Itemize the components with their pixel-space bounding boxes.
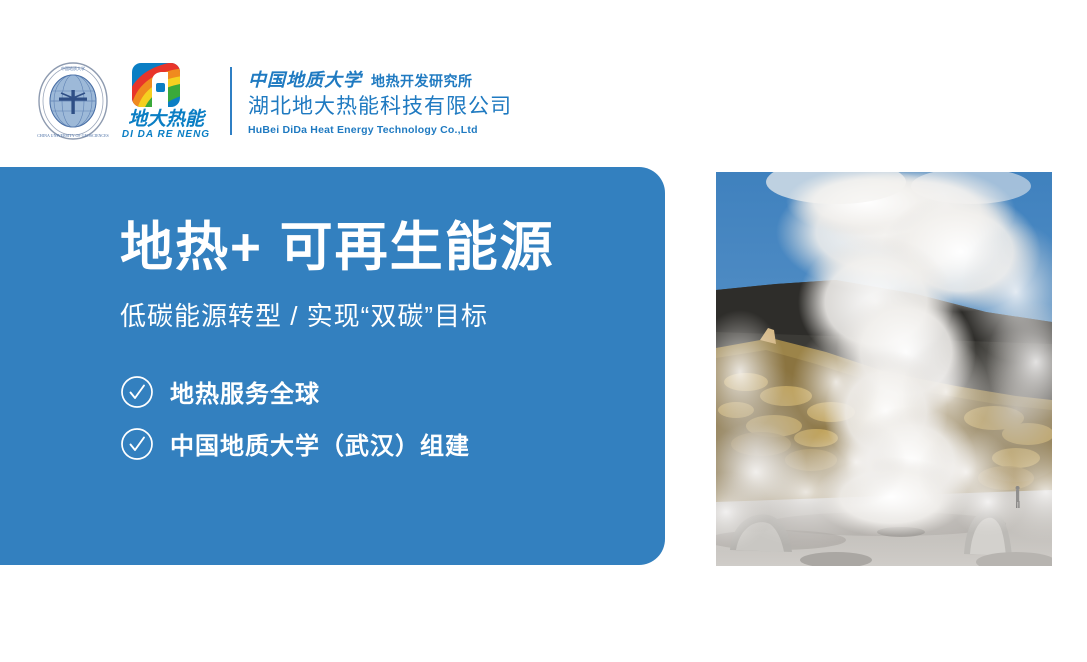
hero-title: 地热+ 可再生能源 (120, 219, 640, 277)
svg-text:地大热能: 地大热能 (128, 108, 207, 130)
company-name-cn: 湖北地大热能科技有限公司 (248, 94, 512, 120)
brand-divider (230, 67, 232, 135)
hero-bullet-label: 中国地质大学（武汉）组建 (170, 426, 470, 461)
company-name-en: HuBei DiDa Heat Energy Technology Co.,Lt… (248, 124, 512, 136)
brand-text-block: 中国地质大学 地热开发研究所 湖北地大热能科技有限公司 HuBei DiDa H… (248, 61, 512, 141)
company-logo-icon: 地大热能 DI DA RE NENG (118, 61, 214, 141)
university-seal-icon: 中国地质大学 CHINA UNIVERSITY OF GEOSCIENCES (36, 61, 110, 141)
hero-bullet-item: 中国地质大学（武汉）组建 (120, 426, 640, 461)
hero-subtitle: 低碳能源转型 / 实现“双碳”目标 (120, 301, 640, 332)
svg-text:CHINA UNIVERSITY OF GEOSCIENCE: CHINA UNIVERSITY OF GEOSCIENCES (37, 133, 109, 138)
brand-header-bar: 中国地质大学 CHINA UNIVERSITY OF GEOSCIENCES (0, 0, 1087, 167)
brand-line-university: 中国地质大学 地热开发研究所 (248, 66, 512, 92)
hero-bullet-label: 地热服务全球 (170, 374, 320, 409)
hero-panel: 地热+ 可再生能源 低碳能源转型 / 实现“双碳”目标 地热服务全球 (0, 167, 665, 565)
company-logo-cn-text: 地大热能 (128, 108, 207, 130)
brand-lockup: 中国地质大学 CHINA UNIVERSITY OF GEOSCIENCES (36, 60, 512, 142)
company-logo-pinyin-text: DI DA RE NENG (122, 129, 210, 140)
geothermal-geyser-field-photo (716, 172, 1052, 566)
svg-text:DI DA RE NENG: DI DA RE NENG (122, 129, 210, 140)
check-circle-icon (120, 427, 154, 461)
university-name: 中国地质大学 (248, 66, 362, 92)
hero-content: 地热+ 可再生能源 低碳能源转型 / 实现“双碳”目标 地热服务全球 (120, 219, 640, 477)
hero-bullet-list: 地热服务全球 中国地质大学（武汉）组建 (120, 374, 640, 461)
check-circle-icon (120, 375, 154, 409)
svg-text:中国地质大学: 中国地质大学 (61, 65, 85, 71)
institute-name: 地热开发研究所 (371, 71, 473, 91)
hero-bullet-item: 地热服务全球 (120, 374, 640, 409)
